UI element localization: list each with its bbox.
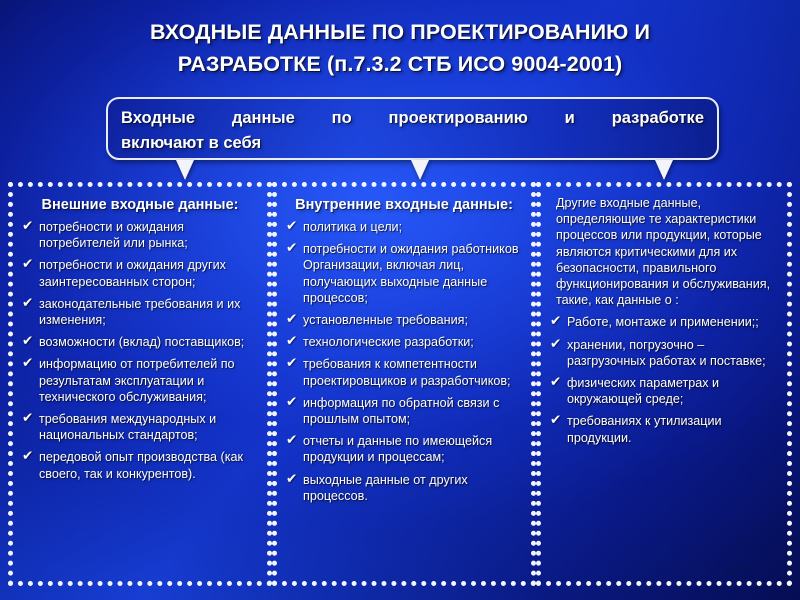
list-item: потребности и ожидания потребителей или … <box>22 219 258 251</box>
list-item: информацию от потребителей по результата… <box>22 356 258 405</box>
column-1-heading: Внешние входные данные: <box>22 196 258 214</box>
list-item: требования международных и национальных … <box>22 411 258 443</box>
page-title: ВХОДНЫЕ ДАННЫЕ ПО ПРОЕКТИРОВАНИЮ И РАЗРА… <box>55 16 745 80</box>
list-item: выходные данные от других процессов. <box>286 472 522 504</box>
list-item: требованиях к утилизации продукции. <box>550 413 778 445</box>
connector-arrow-down-3 <box>655 160 673 180</box>
page-title-line-2: РАЗРАБОТКЕ (п.7.3.2 СТБ ИСО 9004-2001) <box>55 48 745 80</box>
subtitle-box: Входные данные по проектированию и разра… <box>106 97 719 160</box>
column-3-list: Другие входные данные, определяющие те х… <box>550 195 778 446</box>
list-item: законодательные требования и их изменени… <box>22 296 258 328</box>
column-other-input-data: Другие входные данные, определяющие те х… <box>536 182 792 586</box>
list-item: информация по обратной связи с прошлым о… <box>286 395 522 427</box>
connector-arrow-down-2 <box>411 160 429 180</box>
column-1-list: потребности и ожидания потребителей или … <box>22 219 258 482</box>
columns-container: Внешние входные данные: потребности и ож… <box>8 182 792 586</box>
column-internal-input-data: Внутренние входные данные: политика и це… <box>272 182 536 586</box>
list-item: потребности и ожидания работников Органи… <box>286 241 522 306</box>
subtitle-line-1: Входные данные по проектированию и разра… <box>121 106 704 131</box>
list-item: требования к компетентности проектировщи… <box>286 356 522 388</box>
column-2-heading: Внутренние входные данные: <box>286 196 522 214</box>
list-item: политика и цели; <box>286 219 522 235</box>
column-3-intro-text: Другие входные данные, определяющие те х… <box>550 195 778 308</box>
list-item: отчеты и данные по имеющейся продукции и… <box>286 433 522 465</box>
list-item: технологические разработки; <box>286 334 522 350</box>
list-item: возможности (вклад) поставщиков; <box>22 334 258 350</box>
page-title-line-1: ВХОДНЫЕ ДАННЫЕ ПО ПРОЕКТИРОВАНИЮ И <box>55 16 745 48</box>
list-item: потребности и ожидания других заинтересо… <box>22 257 258 289</box>
list-item: передовой опыт производства (как своего,… <box>22 449 258 481</box>
page-number: 100 <box>724 563 748 578</box>
connector-arrow-down-1 <box>176 160 194 180</box>
column-2-list: политика и цели; потребности и ожидания … <box>286 219 522 504</box>
slide-canvas: ВХОДНЫЕ ДАННЫЕ ПО ПРОЕКТИРОВАНИЮ И РАЗРА… <box>0 0 800 600</box>
list-item: установленные требования; <box>286 312 522 328</box>
list-item: Работе, монтаже и применении;; <box>550 314 778 330</box>
column-external-input-data: Внешние входные данные: потребности и ож… <box>8 182 272 586</box>
list-item: физических параметрах и окружающей среде… <box>550 375 778 407</box>
subtitle-line-2: включают в себя <box>121 131 704 156</box>
list-item: хранении, погрузочно – разгрузочных рабо… <box>550 337 778 369</box>
